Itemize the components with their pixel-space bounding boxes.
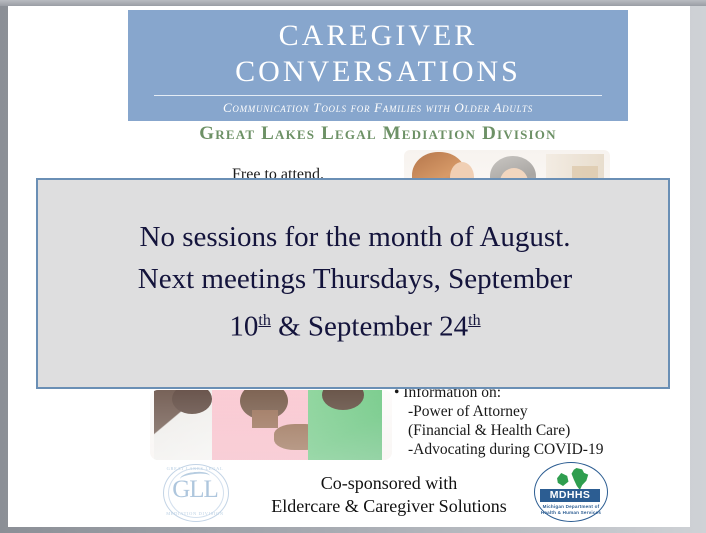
date1-suffix: th: [258, 312, 270, 329]
mdhhs-seal-logo: MDHHS Michigan Department of Health & Hu…: [532, 461, 610, 523]
banner-title-line1: CAREGIVER: [128, 10, 628, 54]
date1-number: 10: [229, 311, 258, 343]
title-banner: CAREGIVER CONVERSATIONS Communication To…: [128, 10, 628, 121]
announcement-overlay-box: No sessions for the month of August. Nex…: [36, 178, 670, 389]
cosponsor-line1: Co-sponsored with: [244, 472, 534, 495]
organization-name: Great Lakes Legal Mediation Division: [128, 123, 628, 145]
announcement-text: No sessions for the month of August. Nex…: [38, 216, 672, 348]
banner-subtitle: Communication Tools for Families with Ol…: [128, 100, 628, 116]
banner-divider: [154, 95, 602, 96]
mdhhs-subtitle-line2: Health & Human Services: [532, 510, 610, 515]
announcement-line2: Next meetings Thursdays, September: [38, 258, 672, 300]
date-conjunction: & September: [271, 311, 439, 343]
date2-number: 24: [439, 311, 468, 343]
mdhhs-acronym: MDHHS: [540, 489, 600, 502]
announcement-line3: 10th & September 24th: [38, 300, 672, 348]
gll-monogram: GLL: [158, 476, 232, 504]
photo-fade-overlay: [150, 390, 392, 460]
date2-suffix: th: [468, 312, 480, 329]
gll-ring-text-bottom: MEDIATION DIVISION: [158, 511, 232, 516]
bullet-item-power-of-attorney: -Power of Attorney: [408, 402, 644, 421]
gll-ring-text-top: GREAT LAKES LEGAL: [158, 466, 232, 471]
cosponsor-text: Co-sponsored with Eldercare & Caregiver …: [244, 472, 534, 518]
bullet-item-advocating-covid: -Advocating during COVID-19: [408, 440, 644, 459]
mdhhs-subtitle-line1: Michigan Department of: [532, 504, 610, 509]
great-lakes-legal-seal-logo: GREAT LAKES LEGAL GLL MEDIATION DIVISION: [158, 464, 232, 522]
mdhhs-acronym-bar: MDHHS: [540, 489, 600, 502]
banner-title-line2: CONVERSATIONS: [128, 54, 628, 90]
screenshot-canvas: CAREGIVER CONVERSATIONS Communication To…: [0, 0, 706, 533]
family-group-photo: [150, 390, 392, 460]
bullet-item-financial-health-care: (Financial & Health Care): [408, 421, 644, 440]
announcement-line1: No sessions for the month of August.: [38, 216, 672, 258]
cosponsor-line2: Eldercare & Caregiver Solutions: [244, 495, 534, 518]
information-bullet-list: • Information on: -Power of Attorney (Fi…: [394, 383, 644, 459]
slide-page: CAREGIVER CONVERSATIONS Communication To…: [8, 6, 690, 527]
